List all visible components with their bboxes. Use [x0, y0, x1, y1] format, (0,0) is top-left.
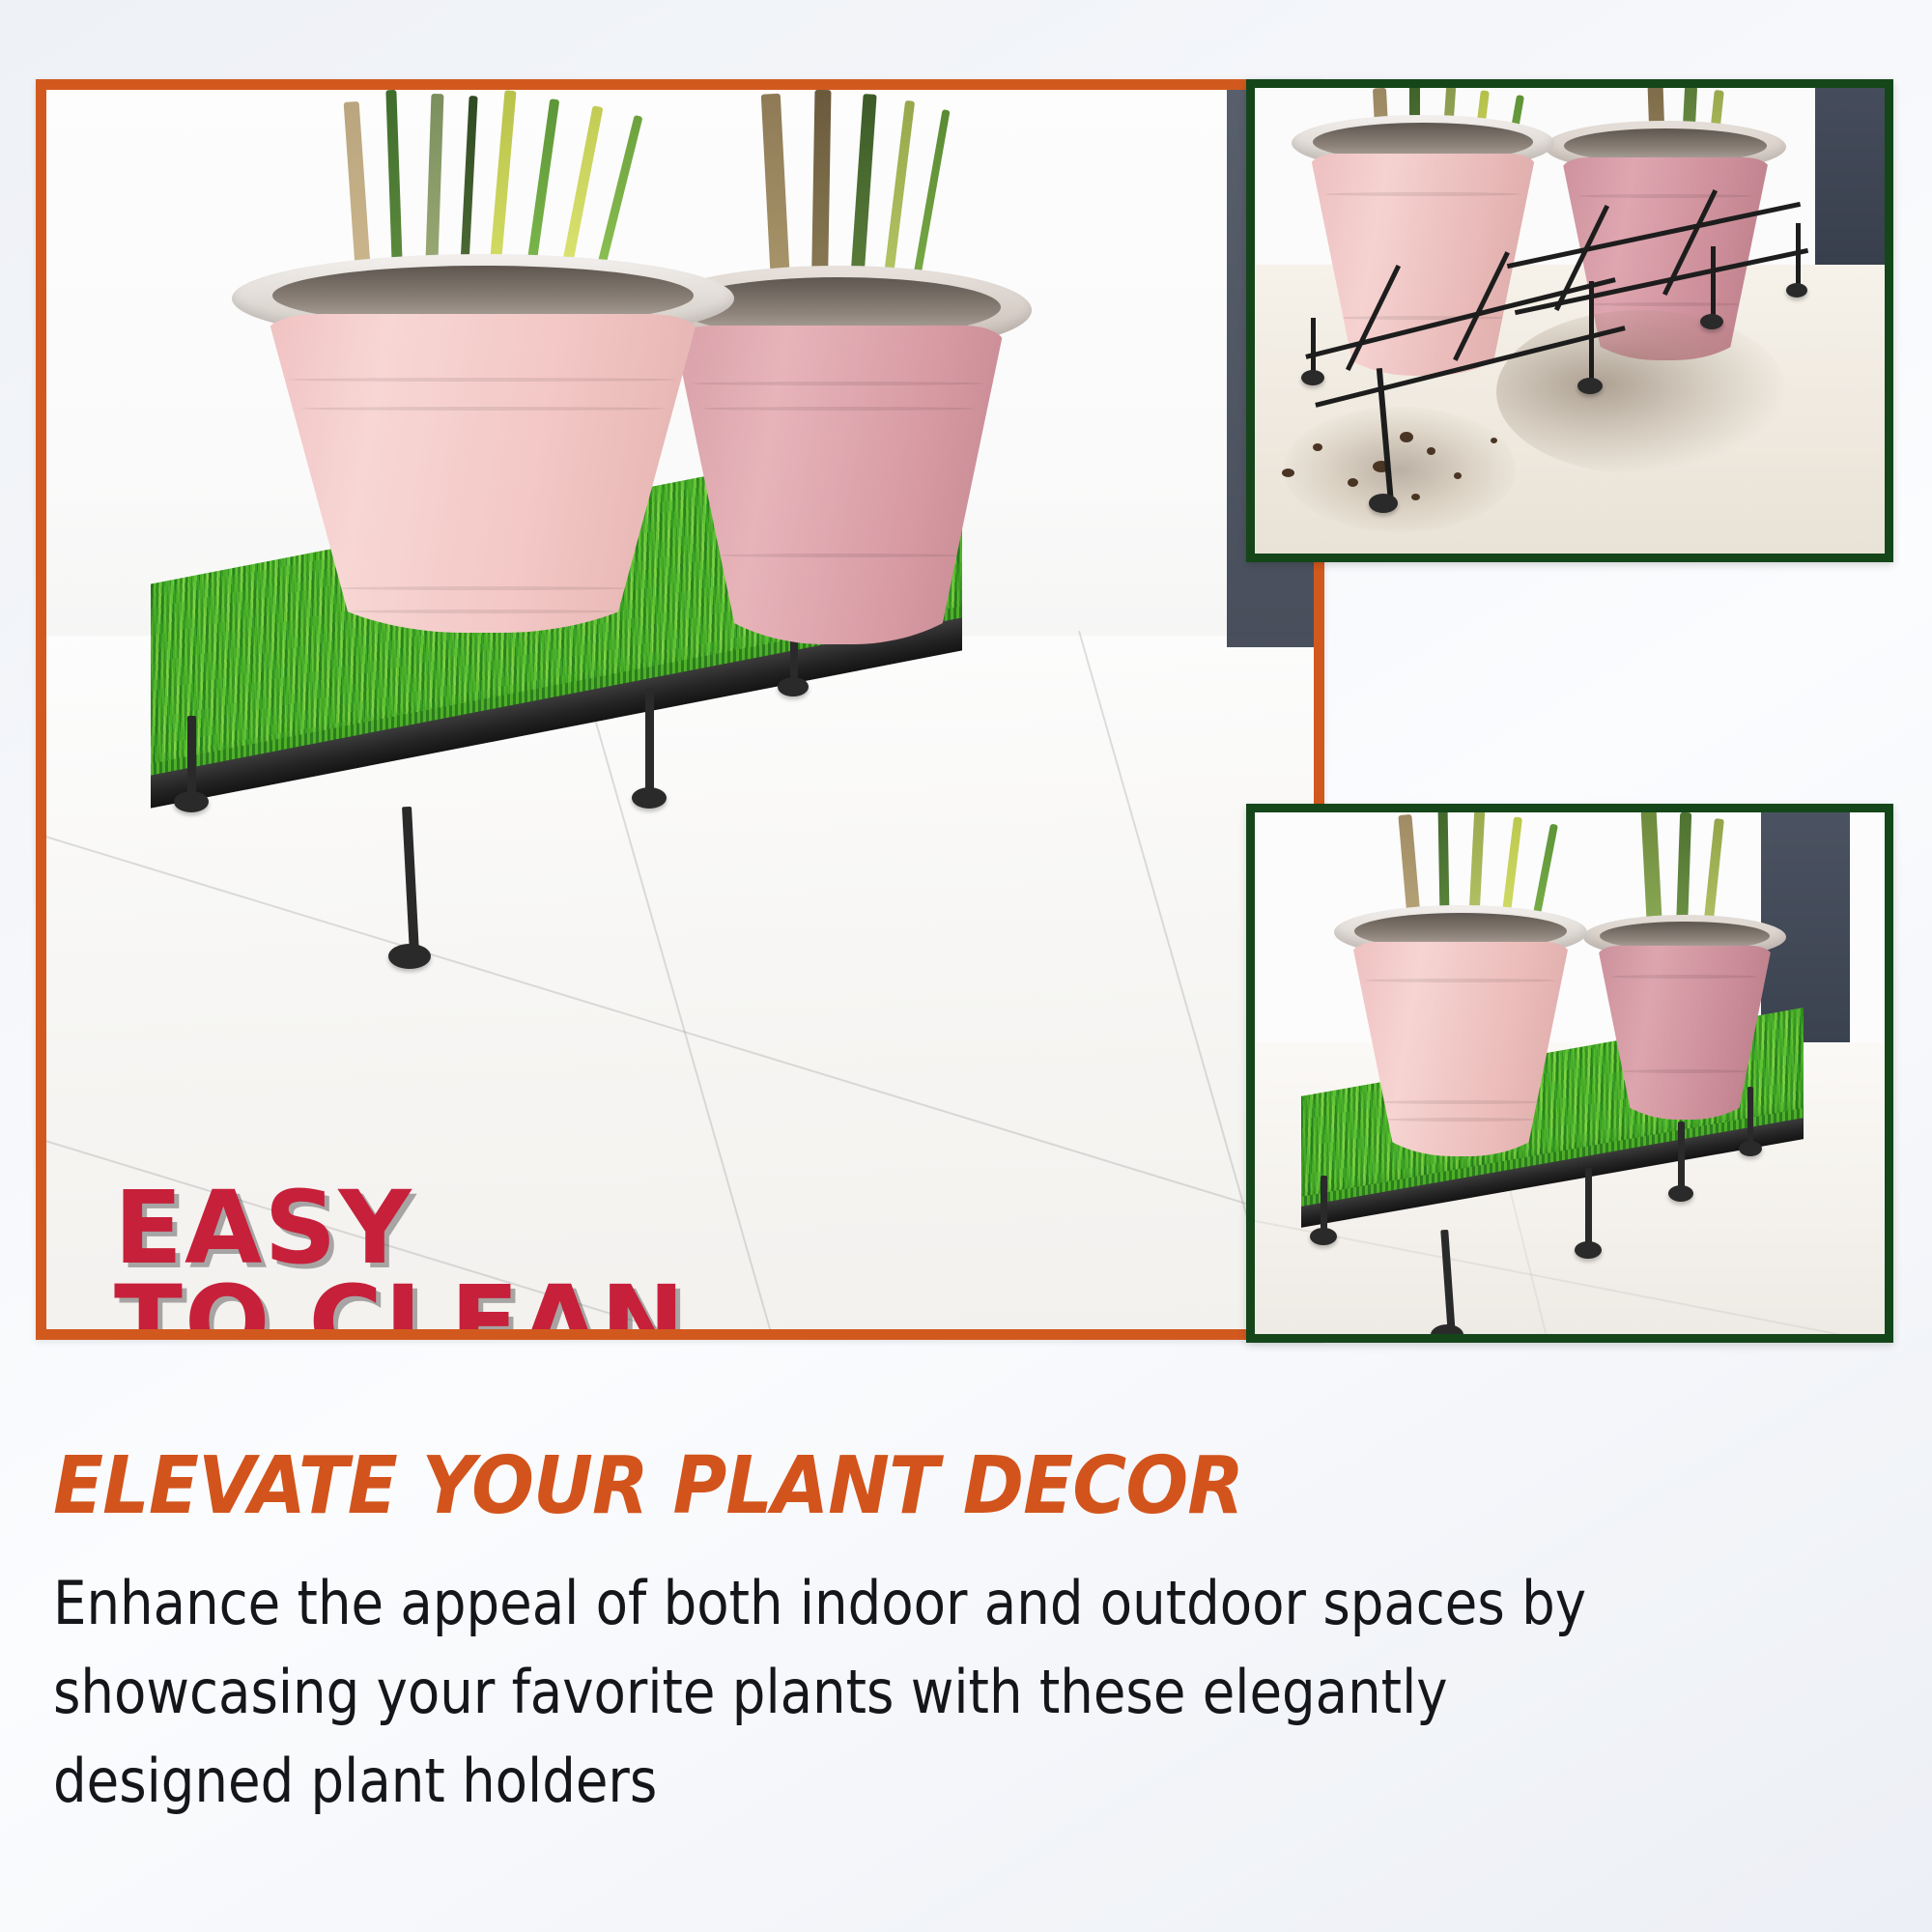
spilled-soil: [1313, 443, 1322, 451]
rack-foot: [1301, 370, 1324, 385]
rack-foot: [1369, 494, 1398, 513]
section-body-text: Enhance the appeal of both indoor and ou…: [53, 1559, 1643, 1825]
main-product-photo: EASY TO CLEAN: [46, 90, 1314, 1329]
stand-leg: [1321, 1176, 1327, 1236]
main-photo-panel: EASY TO CLEAN: [36, 79, 1324, 1340]
rack-foot: [1786, 283, 1807, 298]
rack-leg: [1311, 318, 1316, 378]
plant-foliage: [1639, 809, 1755, 928]
inset-panel-dirty-rack: [1246, 79, 1893, 562]
stand-foot: [1668, 1185, 1693, 1202]
stand-foot: [1310, 1228, 1337, 1245]
planter-pot-front: [1334, 905, 1587, 1181]
stand-foot: [1739, 1141, 1762, 1156]
dirt-smear: [1284, 407, 1516, 532]
planter-pot-front: [232, 254, 734, 708]
stand-foot: [778, 677, 809, 696]
inset-photo-dirty-rack: [1255, 88, 1885, 554]
stand-foot: [632, 787, 667, 809]
stand-foot: [388, 944, 431, 969]
stand-foot: [1575, 1241, 1602, 1259]
bottom-copy-block: ELEVATE YOUR PLANT DECOR Enhance the app…: [53, 1447, 1860, 1825]
easy-to-clean-overlay: EASY TO CLEAN: [114, 1181, 687, 1329]
spilled-soil: [1282, 469, 1294, 477]
stand-leg: [187, 716, 196, 797]
pot-body: [1598, 946, 1773, 1120]
rack-foot: [1577, 378, 1603, 394]
spilled-soil: [1400, 432, 1413, 442]
dirt-smear: [1496, 310, 1786, 474]
spilled-soil: [1411, 494, 1420, 500]
spilled-soil: [1427, 447, 1435, 455]
stand-foot: [1431, 1324, 1463, 1343]
spilled-soil: [1454, 472, 1462, 479]
rack-leg: [1711, 246, 1716, 322]
plant-foliage: [336, 90, 655, 273]
inset-panel-clean-stand: [1246, 804, 1893, 1343]
rack-leg: [1589, 281, 1594, 387]
section-headline: ELEVATE YOUR PLANT DECOR: [53, 1447, 1733, 1526]
rack-leg: [1796, 223, 1801, 291]
stand-foot: [174, 791, 209, 812]
rack-foot: [1700, 314, 1723, 329]
spilled-soil: [1348, 478, 1358, 487]
inset-photo-clean-stand: [1255, 812, 1885, 1334]
pot-body: [1351, 942, 1569, 1156]
plant-foliage: [761, 90, 974, 283]
easy-to-clean-line2: TO CLEAN: [114, 1276, 687, 1329]
spilled-soil: [1491, 438, 1497, 443]
infographic-stage: EASY TO CLEAN: [0, 0, 1932, 1932]
planter-pot-back: [1583, 915, 1786, 1137]
pot-body: [267, 314, 698, 633]
